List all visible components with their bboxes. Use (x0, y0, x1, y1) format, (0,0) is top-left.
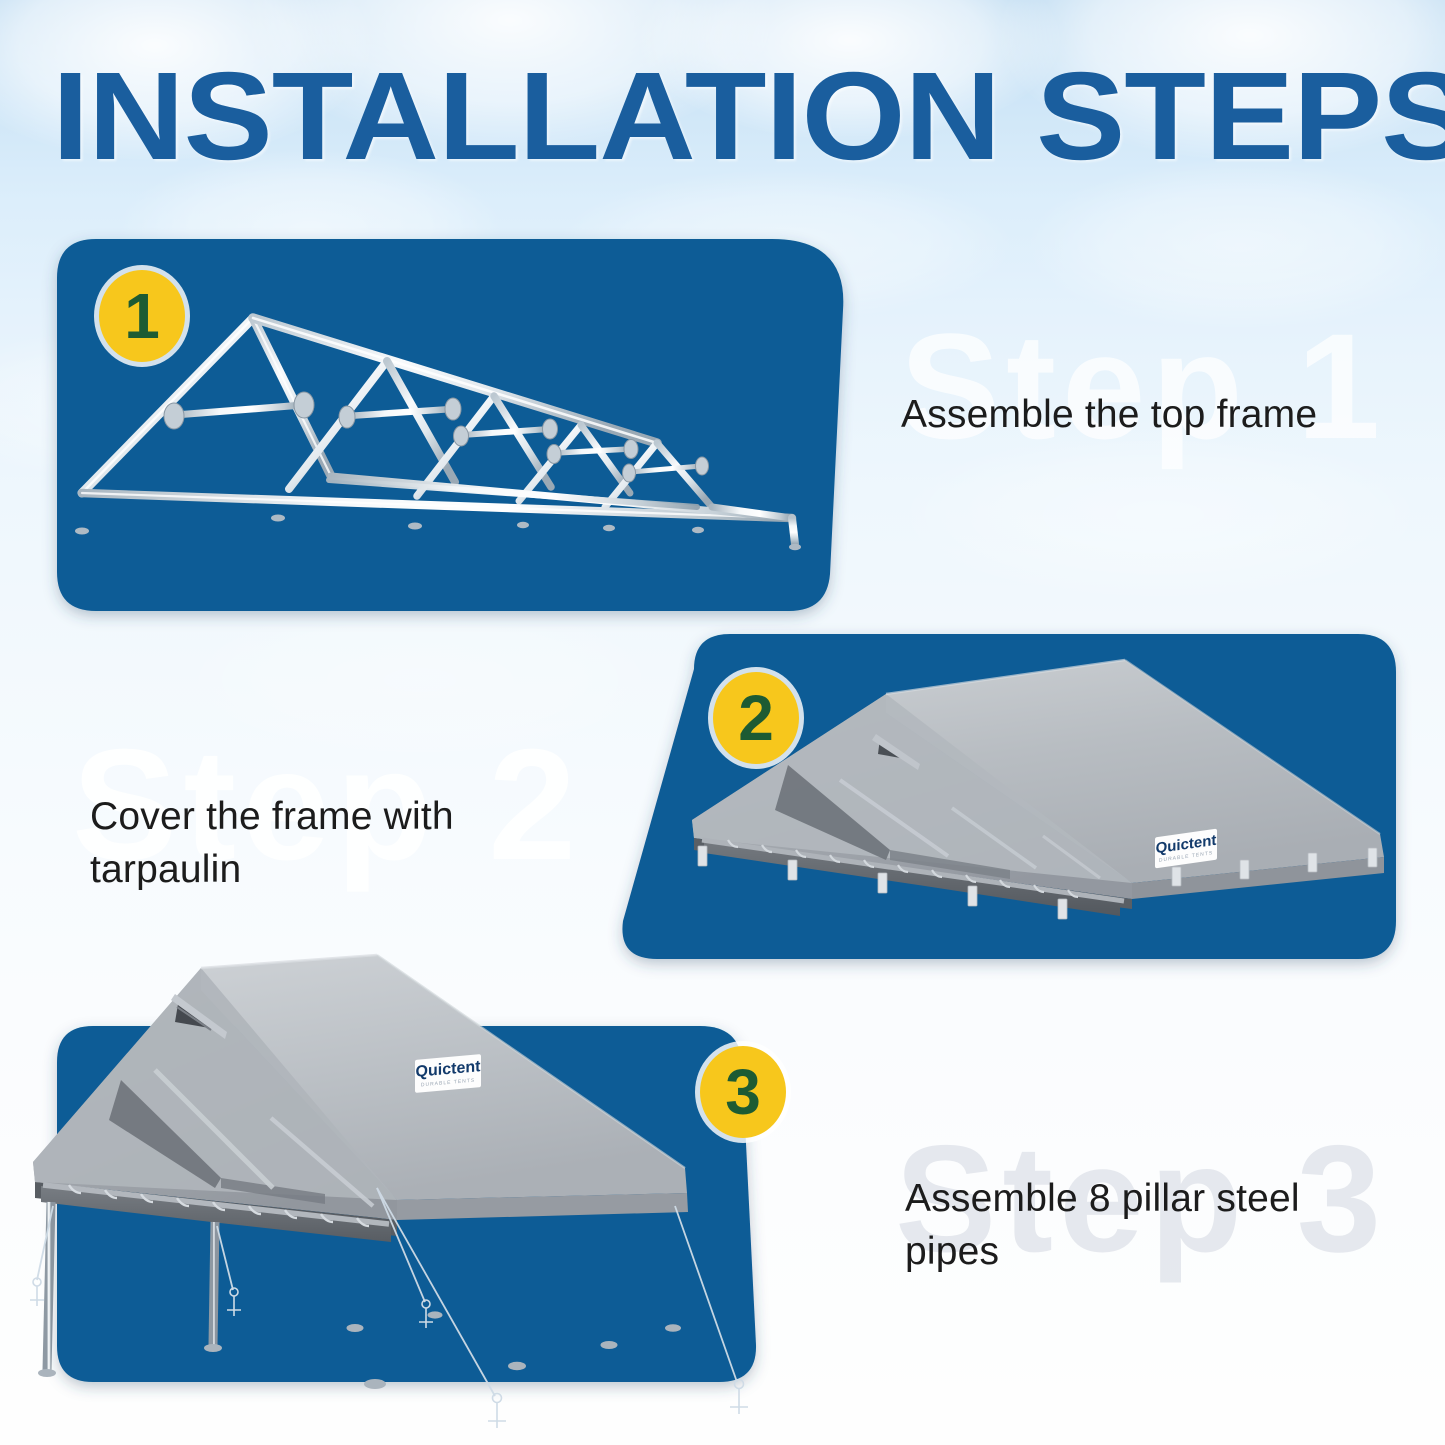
brand-tagline: DURABLE TENTS (421, 1078, 475, 1088)
infographic-canvas: INSTALLATION STEPS Step 1 Assemble the t… (0, 0, 1445, 1445)
step-3-number-badge: 3 (700, 1046, 786, 1138)
brand-label: Quictent DURABLE TENTS (415, 1054, 481, 1093)
step-3-panel (0, 0, 1445, 1445)
step-3-panel-shape (57, 1026, 756, 1382)
